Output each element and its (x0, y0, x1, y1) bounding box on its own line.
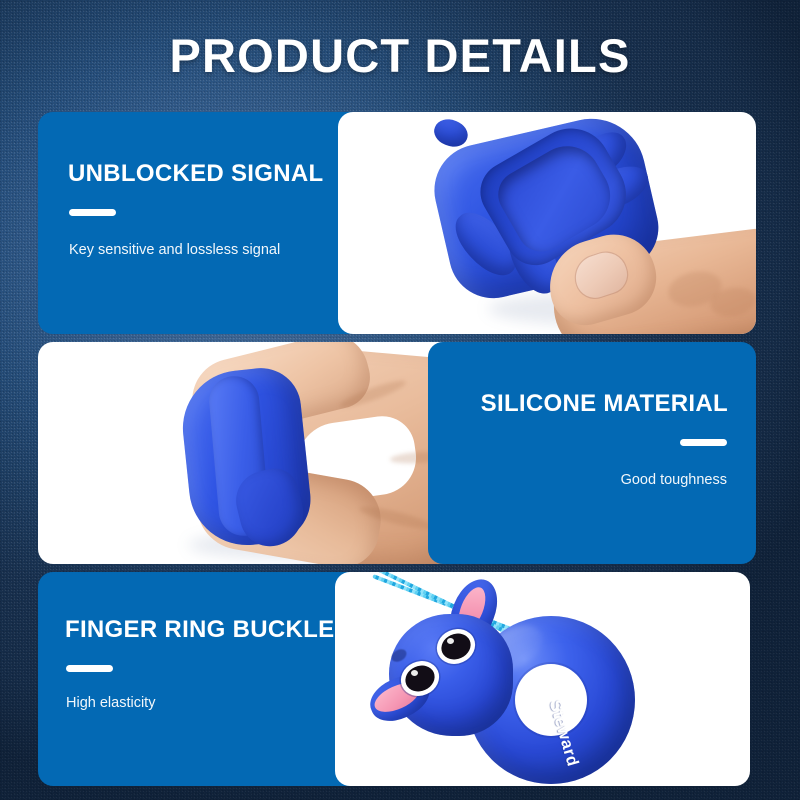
feature-card-finger-ring-buckle: Steward FINGER RING BUCKLE High elastici… (38, 572, 750, 786)
feature-divider-rule (680, 439, 727, 446)
feature-subtitle: Good toughness (621, 472, 727, 488)
feature-subtitle: High elasticity (66, 695, 155, 711)
photo-scene-ring-keychain: Steward (335, 572, 750, 786)
feature-subtitle: Key sensitive and lossless signal (69, 242, 280, 258)
feature-card-unblocked-signal: UNBLOCKED SIGNAL Key sensitive and lossl… (38, 112, 756, 334)
feature-text-panel (428, 342, 756, 564)
product-details-infographic: PRODUCT DETAILS UNBLOCKED SIGNA (0, 0, 800, 800)
feature-text-panel (38, 112, 368, 334)
photo-scene-key-fob-in-fingers (338, 112, 756, 334)
photo-scene-squeezing-case (38, 342, 458, 564)
feature-photo-panel (338, 112, 756, 334)
character-eye-glint (447, 638, 454, 644)
feature-title: FINGER RING BUCKLE (65, 616, 334, 644)
feature-photo-panel: Steward (335, 572, 750, 786)
feature-title: UNBLOCKED SIGNAL (68, 160, 323, 188)
feature-divider-rule (69, 209, 116, 216)
feature-photo-panel (38, 342, 458, 564)
feature-card-silicone-material: SILICONE MATERIAL Good toughness (38, 342, 756, 564)
feature-title: SILICONE MATERIAL (481, 390, 728, 418)
page-title: PRODUCT DETAILS (0, 26, 800, 86)
feature-divider-rule (66, 665, 113, 672)
character-eye-glint (411, 670, 418, 676)
feature-text-panel (38, 572, 370, 786)
